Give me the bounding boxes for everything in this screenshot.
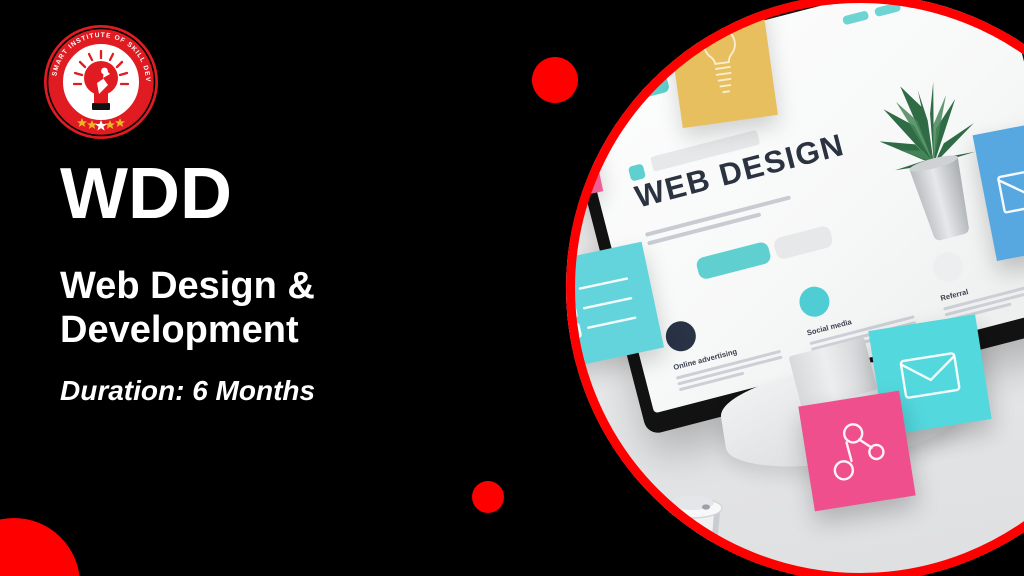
feature-item: Online advertising (663, 298, 785, 394)
envelope-icon (994, 163, 1024, 217)
coffee-cup (640, 472, 744, 576)
nav-pill (874, 2, 901, 17)
primary-cta-button[interactable] (695, 241, 772, 281)
nav-pill (938, 0, 965, 1)
share-nodes-icon (822, 416, 893, 487)
checklist-icon (566, 265, 646, 347)
feature-bubble (930, 249, 967, 286)
nav-pill (842, 10, 869, 25)
nav-pill (906, 0, 933, 9)
course-info: WDD Web Design & Development Duration: 6… (60, 158, 530, 407)
hero-artwork: Logo WEB DESIGN (566, 0, 1024, 576)
share-card (798, 391, 915, 512)
course-title: Web Design & Development (60, 264, 390, 353)
feature-bubble (663, 318, 700, 355)
seal-graphic: SMART INSTITUTE OF SKILL DEVELOPMENT (42, 23, 160, 141)
feature-bubble (796, 283, 833, 320)
site-logo-pill: Logo (605, 71, 670, 107)
site-nav (842, 0, 965, 25)
circular-photo-mask: Logo WEB DESIGN (566, 0, 1024, 576)
lightbulb-card (666, 0, 778, 128)
envelope-icon (896, 346, 965, 403)
lightbulb-icon (690, 20, 754, 105)
desk-scene: Logo WEB DESIGN (566, 0, 1024, 576)
red-dot-bottom (472, 481, 504, 513)
secondary-cta-button[interactable] (772, 225, 834, 261)
institute-logo: SMART INSTITUTE OF SKILL DEVELOPMENT (42, 23, 160, 141)
course-code: WDD (60, 158, 530, 230)
red-corner-circle (0, 518, 80, 576)
course-duration: Duration: 6 Months (60, 375, 530, 407)
